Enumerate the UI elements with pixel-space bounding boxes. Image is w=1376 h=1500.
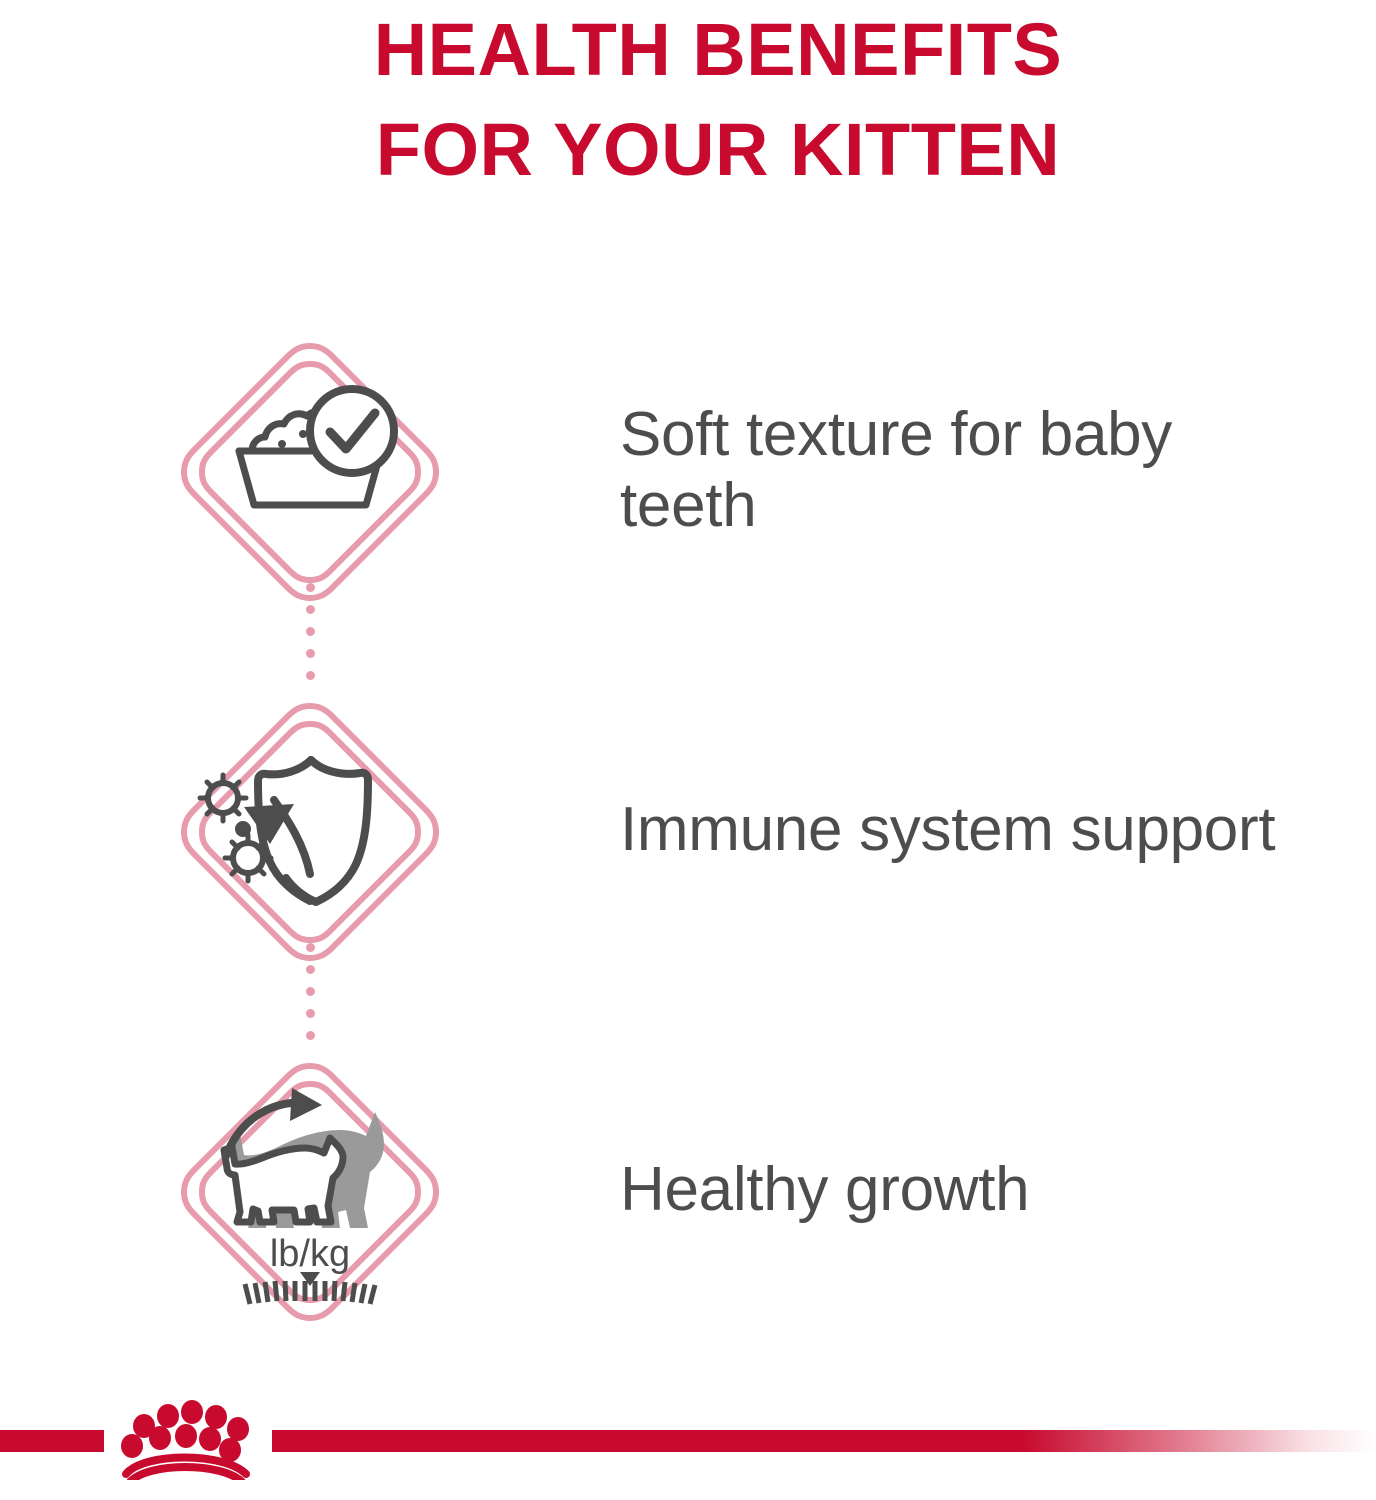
royal-canin-crown-logo (104, 1400, 272, 1480)
benefit-label: Healthy growth (620, 1154, 1330, 1225)
page-title: HEALTH BENEFITS FOR YOUR KITTEN (0, 0, 1376, 200)
connector-dot (306, 627, 315, 636)
connector-dot (306, 1009, 315, 1018)
connector-dot (306, 1031, 315, 1040)
connector-dots (303, 583, 317, 693)
footer-rule-right (272, 1430, 1376, 1452)
scale-unit-label: lb/kg (270, 1233, 350, 1275)
benefit-label: Soft texture for baby teeth (620, 399, 1330, 542)
page-title-line-2: FOR YOUR KITTEN (60, 100, 1376, 200)
benefit-label: Immune system support (620, 794, 1330, 865)
benefits-list: Soft texture for baby teeth (0, 300, 1376, 1360)
connector-dot (306, 987, 315, 996)
connector-dot (306, 965, 315, 974)
connector-dot (306, 943, 315, 952)
connector-dot (306, 605, 315, 614)
connector-dot (306, 671, 315, 680)
food-bowl-check-icon (170, 332, 450, 612)
benefit-icon-slot (0, 320, 620, 620)
shield-germs-icon (170, 692, 450, 972)
connector-dots (303, 943, 317, 1053)
benefit-icon-slot: lb/kg (0, 1040, 620, 1340)
cat-growth-scale-icon: lb/kg (170, 1052, 450, 1332)
footer (0, 1400, 1376, 1500)
benefit-item-immune-support: Immune system support (0, 680, 1376, 980)
benefit-item-healthy-growth: lb/kg (0, 1040, 1376, 1340)
benefit-icon-slot (0, 680, 620, 980)
benefit-item-soft-texture: Soft texture for baby teeth (0, 320, 1376, 620)
page-title-line-1: HEALTH BENEFITS (60, 0, 1376, 100)
connector-dot (306, 583, 315, 592)
connector-dot (306, 649, 315, 658)
footer-rule-left (0, 1430, 104, 1452)
